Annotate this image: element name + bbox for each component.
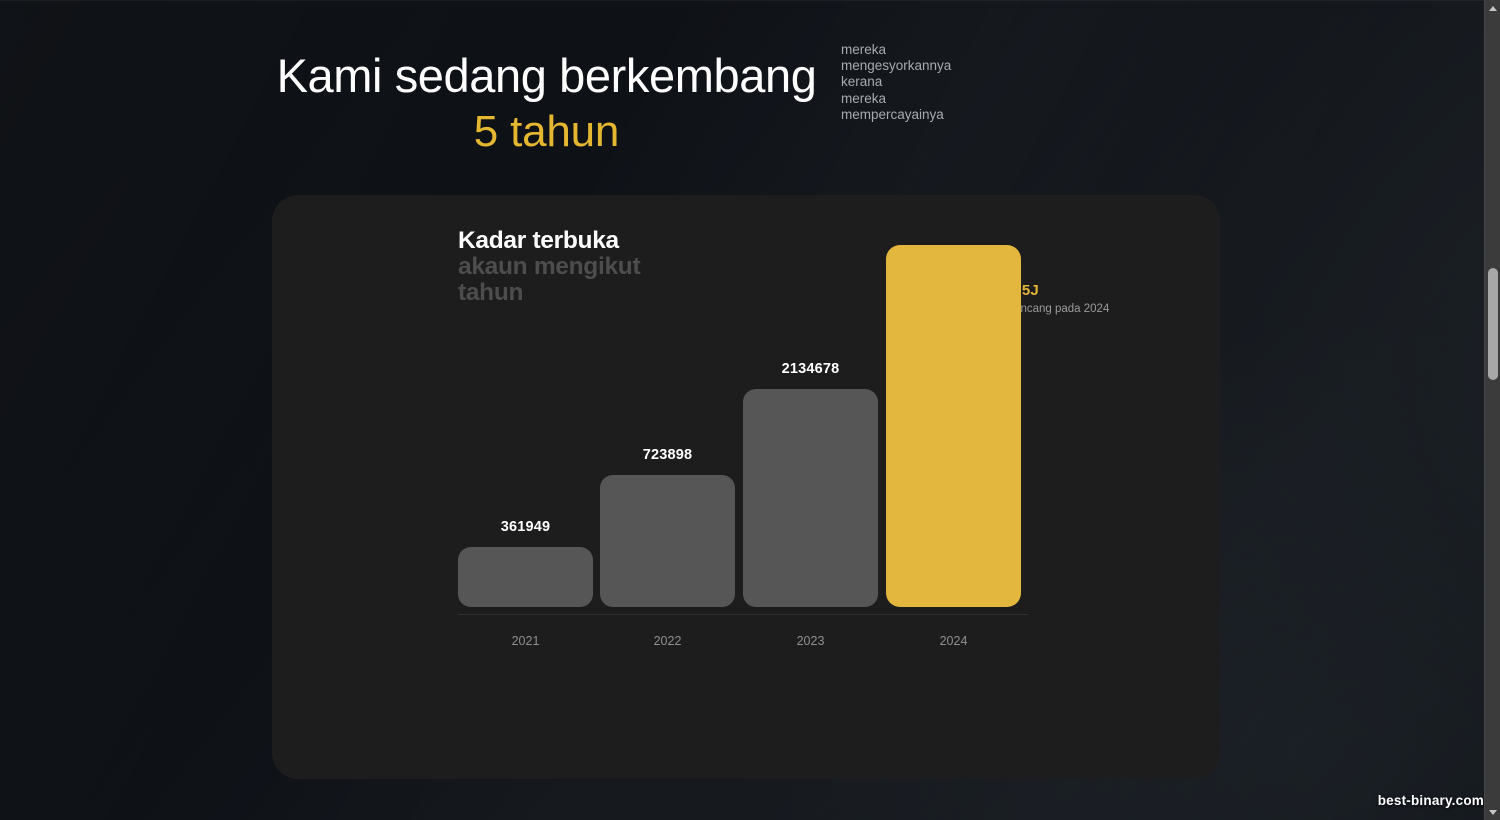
x-axis-line xyxy=(458,614,1028,615)
side-note-line-4: mereka xyxy=(841,91,1051,107)
side-note-line-3: kerana xyxy=(841,74,1051,90)
page-header: Kami sedang berkembang 5 tahun mereka me… xyxy=(0,52,1490,172)
bar-value-label: 2134678 xyxy=(743,361,878,377)
bar-slot-2024[interactable] xyxy=(886,245,1021,607)
scroll-up-arrow-icon[interactable] xyxy=(1485,0,1500,16)
chart-card: Kadar terbuka akaun mengikut tahun 4.5J … xyxy=(272,195,1220,779)
page-title: Kami sedang berkembang xyxy=(264,52,829,99)
side-note-line-5: mempercayainya xyxy=(841,107,1051,123)
page-title-accent: 5 tahun xyxy=(264,110,829,154)
scrollbar-thumb[interactable] xyxy=(1488,268,1498,380)
scroll-down-arrow-icon[interactable] xyxy=(1485,804,1500,820)
headline-block: Kami sedang berkembang 5 tahun xyxy=(264,52,829,154)
side-note-line-1: mereka xyxy=(841,42,1051,58)
site-watermark: best-binary.com xyxy=(1378,793,1484,808)
bar-chart: 361949 723898 2134678 2021 2022 xyxy=(458,300,1028,702)
bar-slot-2022[interactable]: 723898 xyxy=(600,245,735,607)
x-tick-2023: 2023 xyxy=(743,634,878,648)
x-tick-2022: 2022 xyxy=(600,634,735,648)
bar-value-label: 361949 xyxy=(458,519,593,535)
bar-group: 361949 723898 2134678 xyxy=(458,245,1028,607)
bar-rect[interactable] xyxy=(600,475,735,607)
bar-rect[interactable] xyxy=(743,389,878,607)
bar-slot-2021[interactable]: 361949 xyxy=(458,245,593,607)
bar-slot-2023[interactable]: 2134678 xyxy=(743,245,878,607)
bar-rect-highlight[interactable] xyxy=(886,245,1021,607)
header-side-note: mereka mengesyorkannya kerana mereka mem… xyxy=(841,42,1051,123)
x-tick-2021: 2021 xyxy=(458,634,593,648)
x-tick-2024: 2024 xyxy=(886,634,1021,648)
bar-value-label: 723898 xyxy=(600,447,735,463)
side-note-line-2: mengesyorkannya xyxy=(841,58,1051,74)
x-axis-ticks: 2021 2022 2023 2024 xyxy=(458,634,1028,654)
page-root: Kami sedang berkembang 5 tahun mereka me… xyxy=(0,0,1500,820)
top-divider xyxy=(0,0,1500,1)
bar-rect[interactable] xyxy=(458,547,593,607)
vertical-scrollbar[interactable] xyxy=(1484,0,1500,820)
